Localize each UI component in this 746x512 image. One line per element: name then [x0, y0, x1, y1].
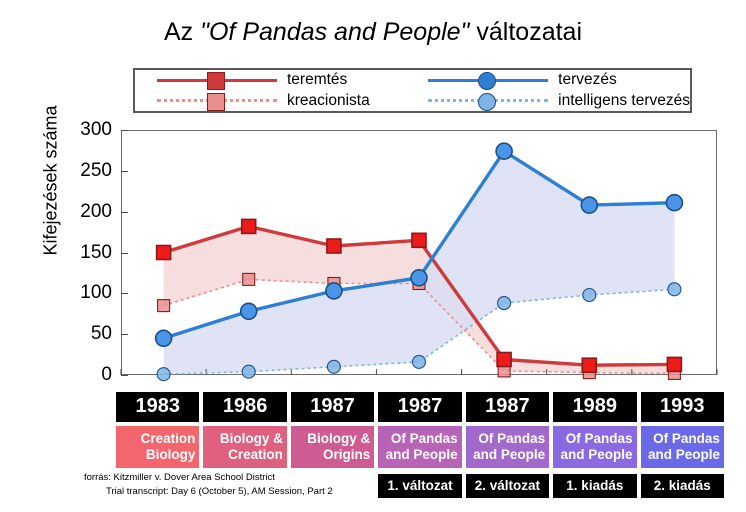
title-prefix: Az	[164, 18, 200, 46]
legend-circle-marker	[478, 93, 496, 111]
year-cell: 1993	[639, 390, 726, 424]
y-tick-label: 100	[54, 282, 121, 304]
data-point-circle	[583, 289, 596, 302]
book-line: Origins	[295, 447, 370, 463]
data-point-square	[157, 246, 171, 260]
data-point-circle	[242, 365, 255, 378]
legend-teremtes[interactable]: teremtés	[135, 70, 406, 91]
data-point-square	[497, 353, 511, 367]
book-cell: Of Pandasand People	[639, 424, 726, 470]
data-point-square	[582, 358, 596, 372]
source-line-1: forrás: Kitzmiller v. Dover Area School …	[84, 471, 333, 485]
data-point-square	[412, 233, 426, 247]
data-point-circle	[666, 195, 682, 211]
year-row: 1983198619871987198719891993	[114, 390, 726, 424]
data-point-circle	[496, 143, 512, 159]
edition-cell: 2. kiadás	[639, 472, 726, 500]
y-tick-label: 0	[54, 364, 121, 386]
data-point-circle	[668, 283, 681, 296]
book-line: and People	[645, 447, 720, 463]
title-quoted: "Of Pandas and People"	[200, 18, 469, 46]
data-point-circle	[326, 283, 342, 299]
edition-cell: 1. kiadás	[551, 472, 638, 500]
source-note: forrás: Kitzmiller v. Dover Area School …	[84, 471, 333, 499]
year-cell: 1989	[551, 390, 638, 424]
book-line: and People	[382, 447, 457, 463]
plot-area: 300250200150100500	[121, 130, 717, 375]
book-line: and People	[557, 447, 632, 463]
book-cell: CreationBiology	[114, 424, 201, 470]
book-line: Of Pandas	[557, 431, 632, 447]
book-cell: Biology &Creation	[201, 424, 288, 470]
legend-sample	[428, 70, 548, 90]
data-point-square	[327, 239, 341, 253]
y-tick-mark	[121, 375, 128, 376]
legend-label: intelligens tervezés	[558, 92, 690, 110]
book-line: Biology &	[295, 431, 370, 447]
data-point-square	[158, 300, 170, 312]
data-point-square	[667, 357, 681, 371]
book-cell: Of Pandasand People	[376, 424, 463, 470]
y-tick-label: 50	[54, 323, 121, 345]
legend-square-marker	[207, 72, 225, 90]
data-point-square	[242, 219, 256, 233]
book-line: and People	[470, 447, 545, 463]
legend-sample	[428, 91, 548, 111]
y-tick-label: 150	[54, 242, 121, 264]
edition-cell: 1. változat	[376, 472, 463, 500]
y-tick-label: 300	[54, 119, 121, 141]
chart-page: Az "Of Pandas and People" változatai ter…	[0, 0, 746, 512]
book-line: Of Pandas	[645, 431, 720, 447]
legend-kreacionista[interactable]: kreacionista	[135, 91, 406, 112]
legend-intelligens-tervezes[interactable]: intelligens tervezés	[406, 91, 690, 112]
book-row: CreationBiologyBiology &CreationBiology …	[114, 424, 726, 470]
y-tick-label: 200	[54, 201, 121, 223]
book-cell: Biology &Origins	[289, 424, 376, 470]
legend-tervezes[interactable]: tervezés	[406, 70, 690, 91]
chart-legend: teremtéstervezéskreacionistaintelligens …	[133, 68, 692, 113]
title-suffix: változatai	[469, 18, 582, 46]
legend-label: teremtés	[287, 71, 347, 89]
data-point-circle	[241, 303, 257, 319]
legend-square-marker	[207, 93, 225, 111]
data-point-circle	[156, 330, 172, 346]
legend-sample	[157, 91, 277, 111]
book-line: Of Pandas	[382, 431, 457, 447]
year-cell: 1987	[464, 390, 551, 424]
year-cell: 1986	[201, 390, 288, 424]
year-cell: 1987	[289, 390, 376, 424]
book-line: Of Pandas	[470, 431, 545, 447]
data-point-circle	[411, 270, 427, 286]
book-cell: Of Pandasand People	[551, 424, 638, 470]
year-cell: 1987	[376, 390, 463, 424]
book-cell: Of Pandasand People	[464, 424, 551, 470]
book-line: Creation	[120, 431, 195, 447]
book-line: Creation	[207, 447, 282, 463]
book-line: Biology &	[207, 431, 282, 447]
page-title: Az "Of Pandas and People" változatai	[0, 18, 746, 47]
data-point-circle	[498, 297, 511, 310]
year-cell: 1983	[114, 390, 201, 424]
plot-svg	[121, 130, 717, 375]
y-tick-label: 250	[54, 160, 121, 182]
data-point-circle	[413, 355, 426, 368]
legend-circle-marker	[478, 72, 496, 90]
book-line: Biology	[120, 447, 195, 463]
data-point-square	[243, 273, 255, 285]
legend-sample	[157, 70, 277, 90]
data-point-circle	[157, 368, 170, 381]
legend-label: kreacionista	[287, 92, 370, 110]
source-line-2: Trial transcript: Day 6 (October 5), AM …	[84, 485, 333, 499]
data-point-circle	[581, 197, 597, 213]
edition-cell: 2. változat	[464, 472, 551, 500]
data-point-circle	[327, 360, 340, 373]
legend-label: tervezés	[558, 71, 617, 89]
